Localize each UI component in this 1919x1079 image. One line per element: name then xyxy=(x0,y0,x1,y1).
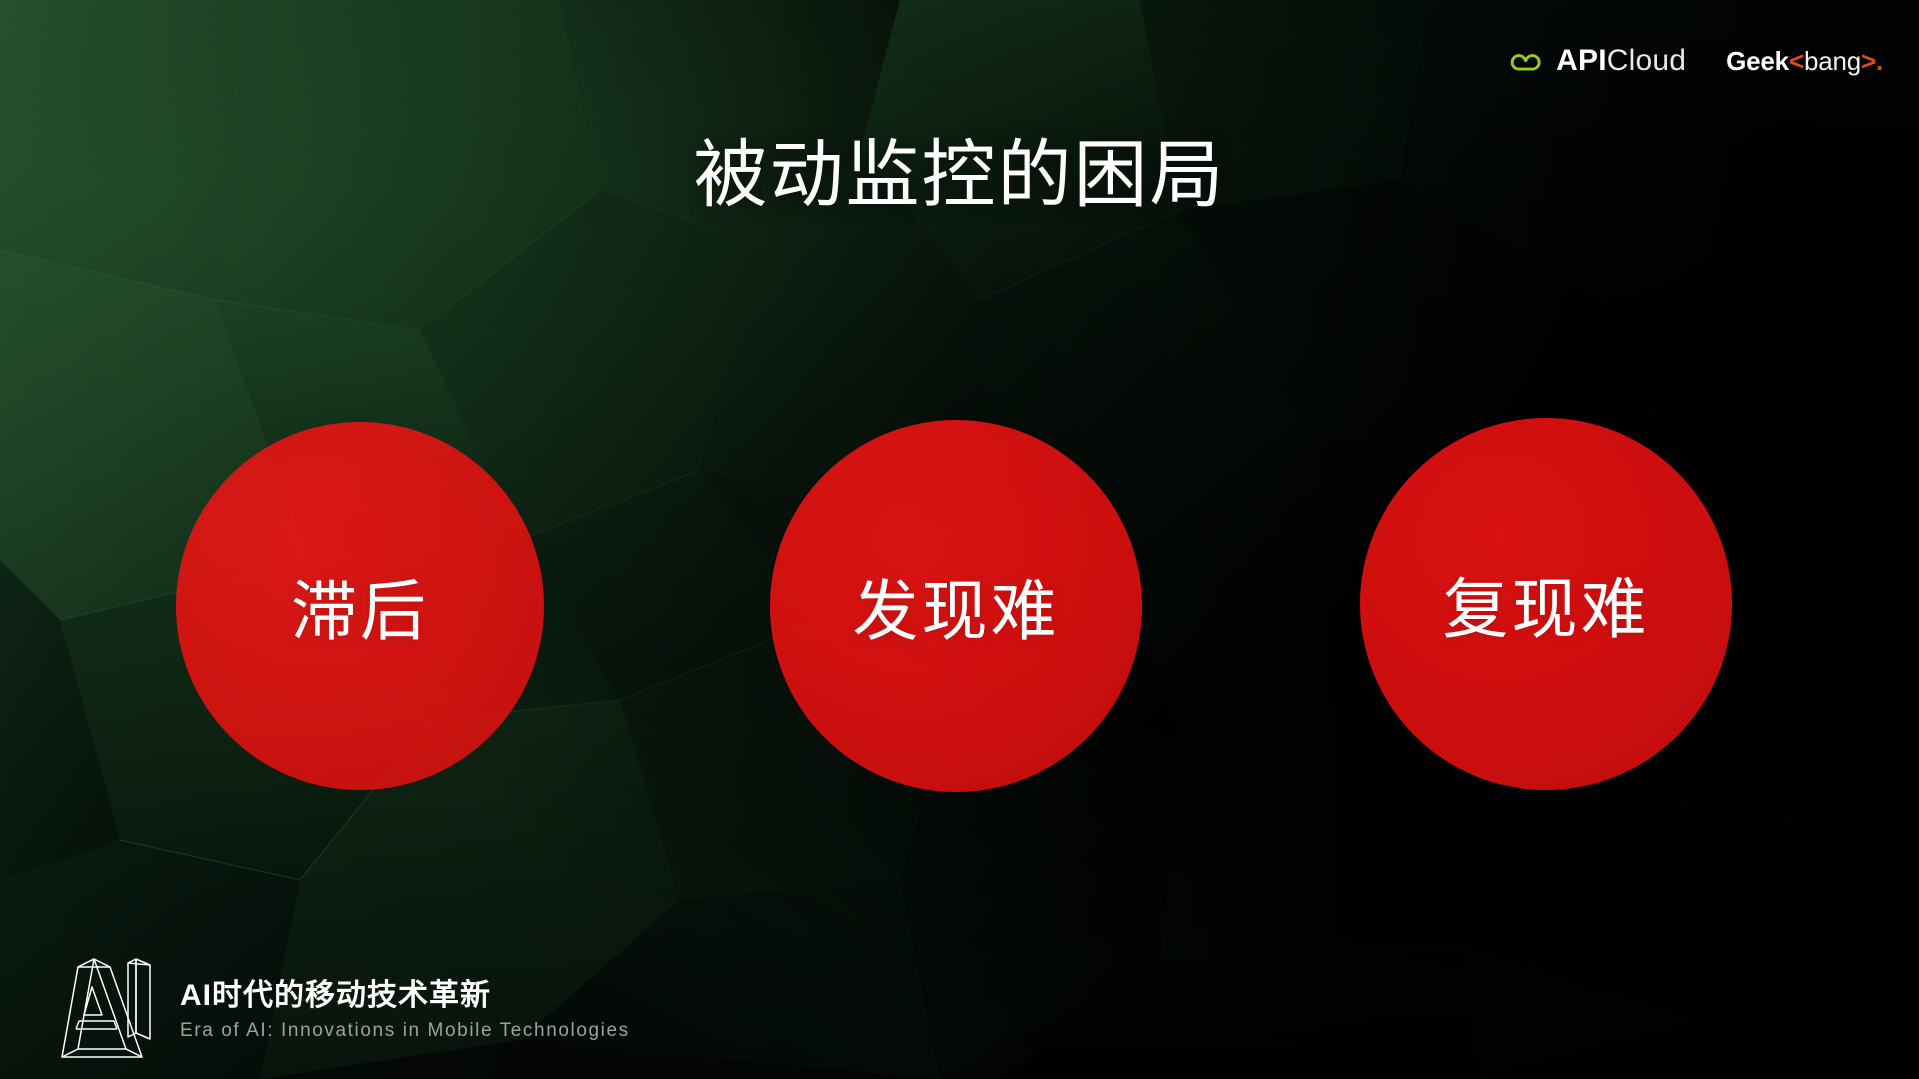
footer-branding: AI时代的移动技术革新 Era of AI: Innovations in Mo… xyxy=(58,953,630,1065)
concept-circles: 滞后 发现难 复现难 xyxy=(0,0,1919,1079)
concept-circle-lagging[interactable]: 滞后 xyxy=(176,422,544,790)
concept-circle-label: 发现难 xyxy=(853,558,1060,654)
concept-circle-hard-to-reproduce[interactable]: 复现难 xyxy=(1360,418,1732,790)
concept-circle-label: 滞后 xyxy=(291,558,429,654)
presentation-slide: APICloud Geek<bang>. 被动监控的困局 滞后 发现难 复现难 xyxy=(0,0,1919,1079)
concept-circle-hard-to-discover[interactable]: 发现难 xyxy=(770,420,1142,792)
footer-subtitle: Era of AI: Innovations in Mobile Technol… xyxy=(180,1020,630,1042)
concept-circle-label: 复现难 xyxy=(1443,556,1650,652)
ai-wireframe-icon xyxy=(58,953,162,1065)
footer-title: AI时代的移动技术革新 xyxy=(180,970,630,1014)
footer-text-block: AI时代的移动技术革新 Era of AI: Innovations in Mo… xyxy=(180,970,630,1048)
